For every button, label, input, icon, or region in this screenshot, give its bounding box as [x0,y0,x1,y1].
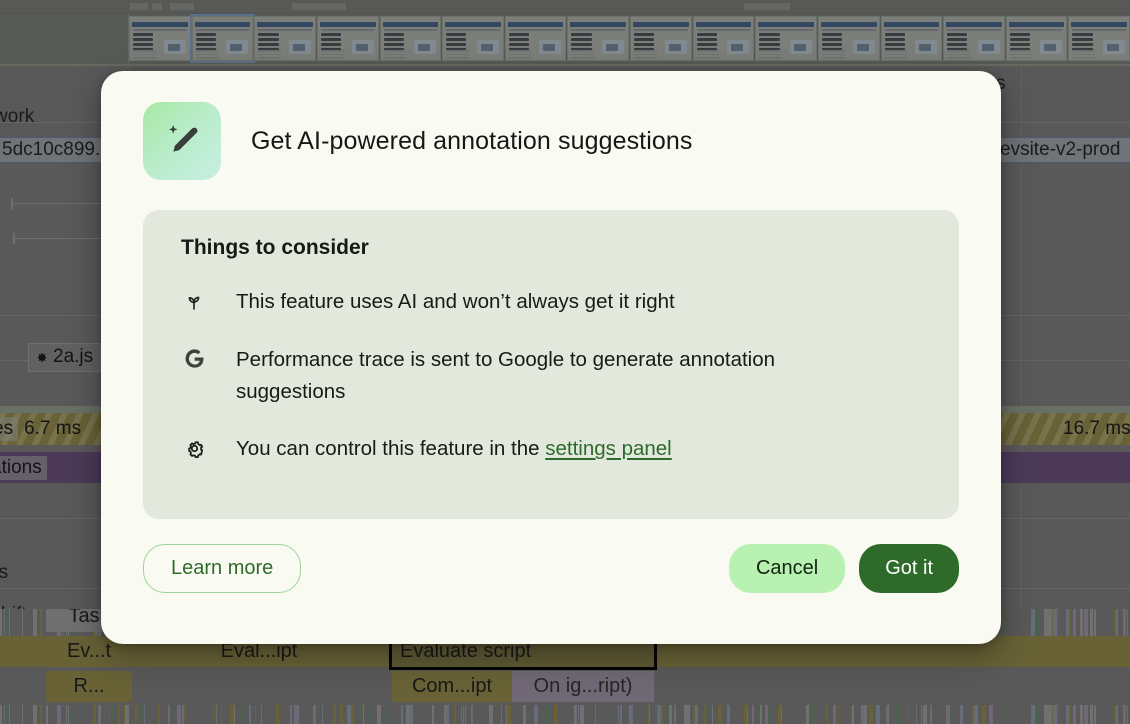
ai-annotation-consent-dialog: Get AI-powered annotation suggestions Th… [101,71,1001,644]
list-item: You can control this feature in the sett… [181,433,927,465]
cancel-button[interactable]: Cancel [729,544,845,593]
considerations-list: This feature uses AI and won’t always ge… [181,286,927,465]
dialog-title: Get AI-powered annotation suggestions [251,127,693,156]
learn-more-button[interactable]: Learn more [143,544,301,593]
google-g-icon [181,346,207,372]
list-item-text: This feature uses AI and won’t always ge… [236,286,675,318]
list-item-text: Performance trace is sent to Google to g… [236,344,876,408]
considerations-heading: Things to consider [181,236,927,260]
list-item: Performance trace is sent to Google to g… [181,344,927,408]
got-it-button[interactable]: Got it [859,544,959,593]
list-item: This feature uses AI and won’t always ge… [181,286,927,318]
gear-icon [181,435,207,461]
ai-magic-pen-icon [143,102,221,180]
sprout-icon [181,288,207,314]
dialog-actions: Learn more Cancel Got it [143,544,959,593]
dialog-header: Get AI-powered annotation suggestions [143,102,959,180]
considerations-card: Things to consider This feature uses AI … [143,210,959,519]
settings-panel-link[interactable]: settings panel [545,437,672,460]
list-item-text: You can control this feature in the sett… [236,433,672,465]
list-item-text-prefix: You can control this feature in the [236,437,545,460]
screen: Network 5dc10c899... evsite-v2-prod s 2a… [0,0,1130,724]
